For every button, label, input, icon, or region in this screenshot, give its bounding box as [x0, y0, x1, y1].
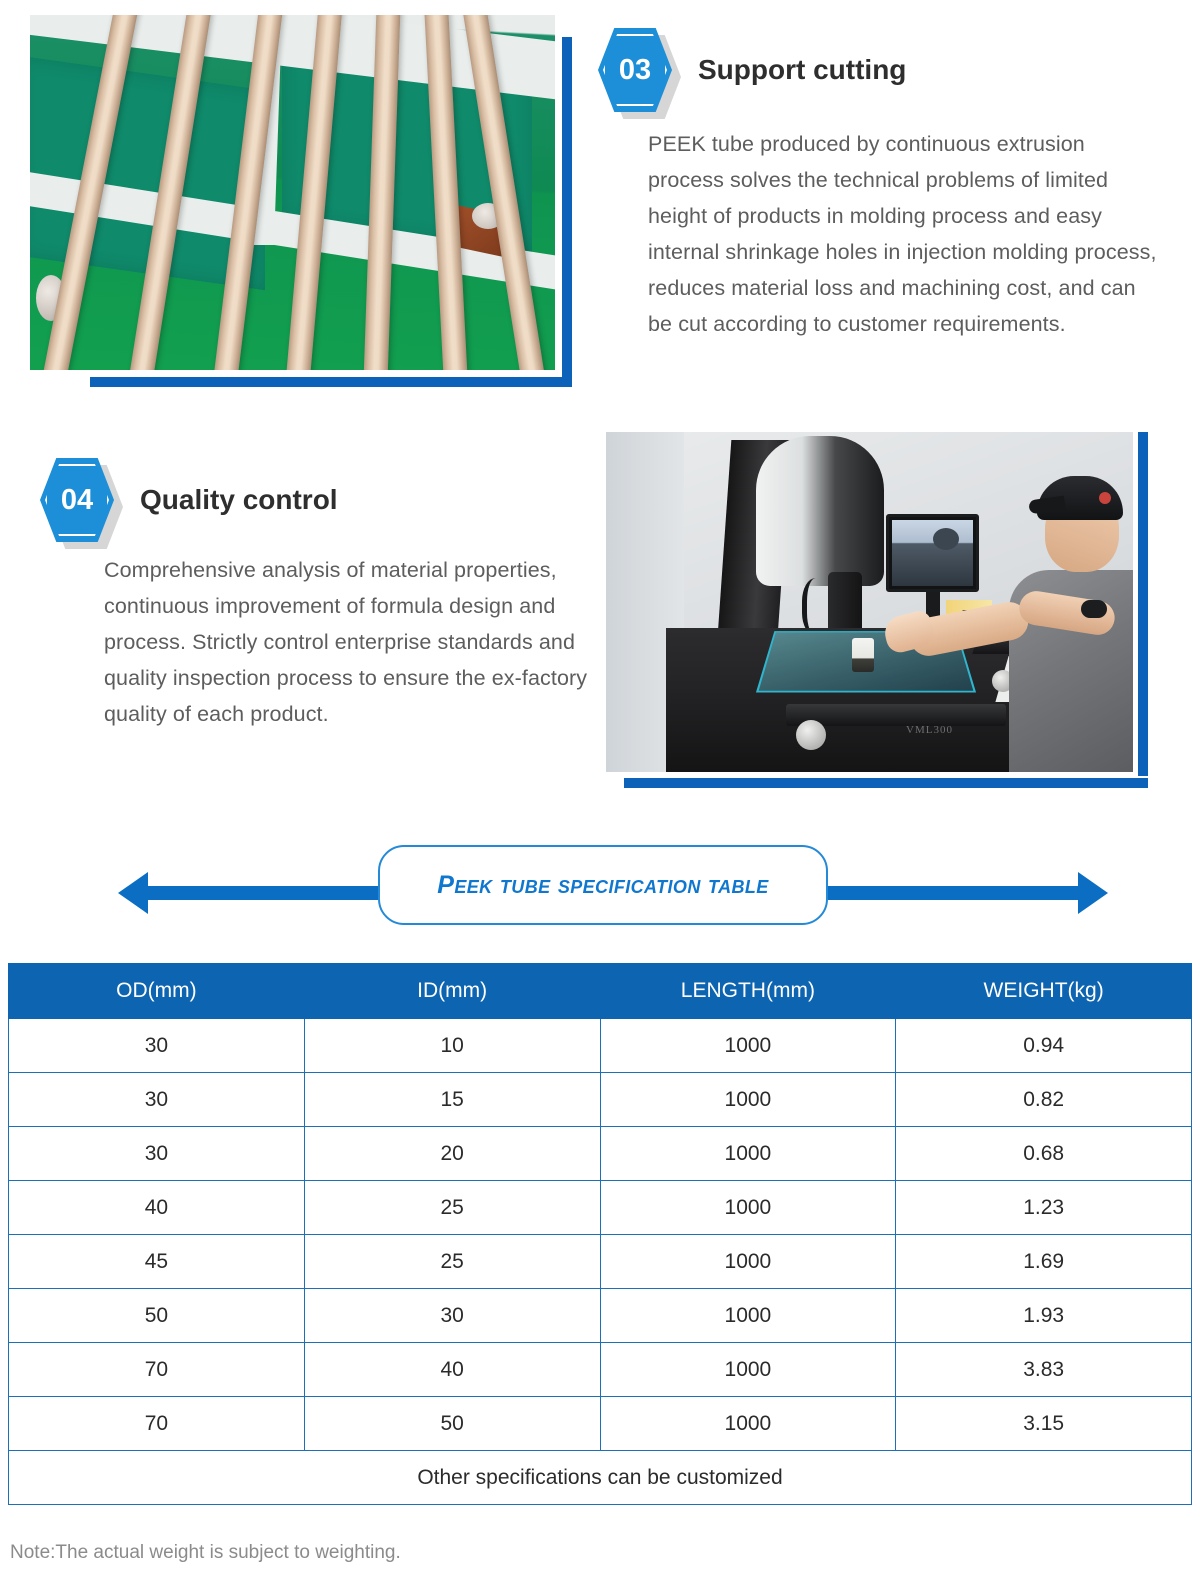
cell-id: 25: [304, 1181, 600, 1235]
machine-lens: [828, 572, 862, 634]
column-header-length: LENGTH(mm): [600, 964, 896, 1019]
column-header-weight: WEIGHT(kg): [896, 964, 1192, 1019]
cell-weight: 1.23: [896, 1181, 1192, 1235]
spec-table-banner: Peek tube specification table: [378, 845, 828, 925]
table-row: 45 25 1000 1.69: [9, 1235, 1192, 1289]
cell-id: 30: [304, 1289, 600, 1343]
vision-measuring-machine-photo: VML300: [606, 432, 1133, 772]
section-04-header: 04 Quality control: [40, 458, 338, 542]
peek-tube-rack-photo: [30, 15, 555, 370]
cell-od: 45: [9, 1235, 305, 1289]
section-03-header: 03 Support cutting: [598, 28, 906, 112]
cell-length: 1000: [600, 1019, 896, 1073]
section-title: Quality control: [140, 484, 338, 516]
measurement-target-icon: [933, 528, 959, 550]
table-row: 70 40 1000 3.83: [9, 1343, 1192, 1397]
hexagon-badge-icon: 04: [40, 458, 114, 542]
measured-part: [852, 638, 874, 672]
machine-optics-hood: [756, 436, 884, 586]
cell-id: 50: [304, 1397, 600, 1451]
cell-od: 30: [9, 1127, 305, 1181]
table-row: 30 10 1000 0.94: [9, 1019, 1192, 1073]
section-title: Support cutting: [698, 54, 906, 86]
table-row: 30 20 1000 0.68: [9, 1127, 1192, 1181]
cell-od: 50: [9, 1289, 305, 1343]
cell-id: 40: [304, 1343, 600, 1397]
column-header-id: ID(mm): [304, 964, 600, 1019]
cell-od: 30: [9, 1019, 305, 1073]
weight-disclaimer-note: Note:The actual weight is subject to wei…: [10, 1542, 401, 1564]
cell-length: 1000: [600, 1343, 896, 1397]
right-arrow-shaft: [828, 886, 1078, 900]
table-footer-note: Other specifications can be customized: [9, 1451, 1192, 1505]
right-arrow-head: [1078, 872, 1108, 914]
column-header-od: OD(mm): [9, 964, 305, 1019]
table-row: 70 50 1000 3.15: [9, 1397, 1192, 1451]
cell-id: 25: [304, 1235, 600, 1289]
cell-weight: 3.83: [896, 1343, 1192, 1397]
section-04-body: Comprehensive analysis of material prope…: [104, 552, 594, 732]
right-arrow-icon: [828, 872, 1108, 914]
cell-weight: 3.15: [896, 1397, 1192, 1451]
left-arrow-shaft: [148, 886, 408, 900]
cell-length: 1000: [600, 1397, 896, 1451]
table-header-row: OD(mm) ID(mm) LENGTH(mm) WEIGHT(kg): [9, 964, 1192, 1019]
photo-frame-accent-bottom: [624, 778, 1148, 788]
photo-frame-accent-right: [1138, 432, 1148, 776]
peek-tube-specification-table: OD(mm) ID(mm) LENGTH(mm) WEIGHT(kg) 30 1…: [8, 963, 1192, 1505]
monitor-screen: [892, 520, 973, 586]
cell-length: 1000: [600, 1127, 896, 1181]
stage-knob: [796, 720, 826, 750]
spec-table-banner-title: Peek tube specification table: [437, 871, 768, 900]
cell-weight: 0.82: [896, 1073, 1192, 1127]
cell-weight: 0.94: [896, 1019, 1192, 1073]
monitor: [886, 514, 979, 592]
photo-frame-accent-bottom: [90, 377, 572, 387]
machine-model-label: VML300: [906, 724, 953, 736]
cell-od: 30: [9, 1073, 305, 1127]
cell-weight: 1.93: [896, 1289, 1192, 1343]
cell-od: 40: [9, 1181, 305, 1235]
left-arrow-head: [118, 872, 148, 914]
cell-id: 20: [304, 1127, 600, 1181]
table-row: 50 30 1000 1.93: [9, 1289, 1192, 1343]
cell-od: 70: [9, 1343, 305, 1397]
hexagon-badge-icon: 03: [598, 28, 672, 112]
cell-weight: 1.69: [896, 1235, 1192, 1289]
cell-id: 10: [304, 1019, 600, 1073]
cell-id: 15: [304, 1073, 600, 1127]
cell-length: 1000: [600, 1073, 896, 1127]
cap-logo-icon: [1099, 492, 1111, 504]
peek-tube-photo-container: [30, 15, 572, 387]
table-row: 40 25 1000 1.23: [9, 1181, 1192, 1235]
left-arrow-icon: [118, 872, 408, 914]
section-number: 03: [598, 28, 672, 112]
cell-od: 70: [9, 1397, 305, 1451]
cell-length: 1000: [600, 1235, 896, 1289]
cell-length: 1000: [600, 1181, 896, 1235]
cell-weight: 0.68: [896, 1127, 1192, 1181]
section-number: 04: [40, 458, 114, 542]
computer-mouse: [1081, 600, 1107, 618]
table-row: 30 15 1000 0.82: [9, 1073, 1192, 1127]
photo-frame-accent-right: [562, 37, 572, 387]
table-footer-row: Other specifications can be customized: [9, 1451, 1192, 1505]
section-03-body: PEEK tube produced by continuous extrusi…: [648, 126, 1164, 342]
quality-control-photo-container: VML300: [606, 432, 1148, 788]
cell-length: 1000: [600, 1289, 896, 1343]
